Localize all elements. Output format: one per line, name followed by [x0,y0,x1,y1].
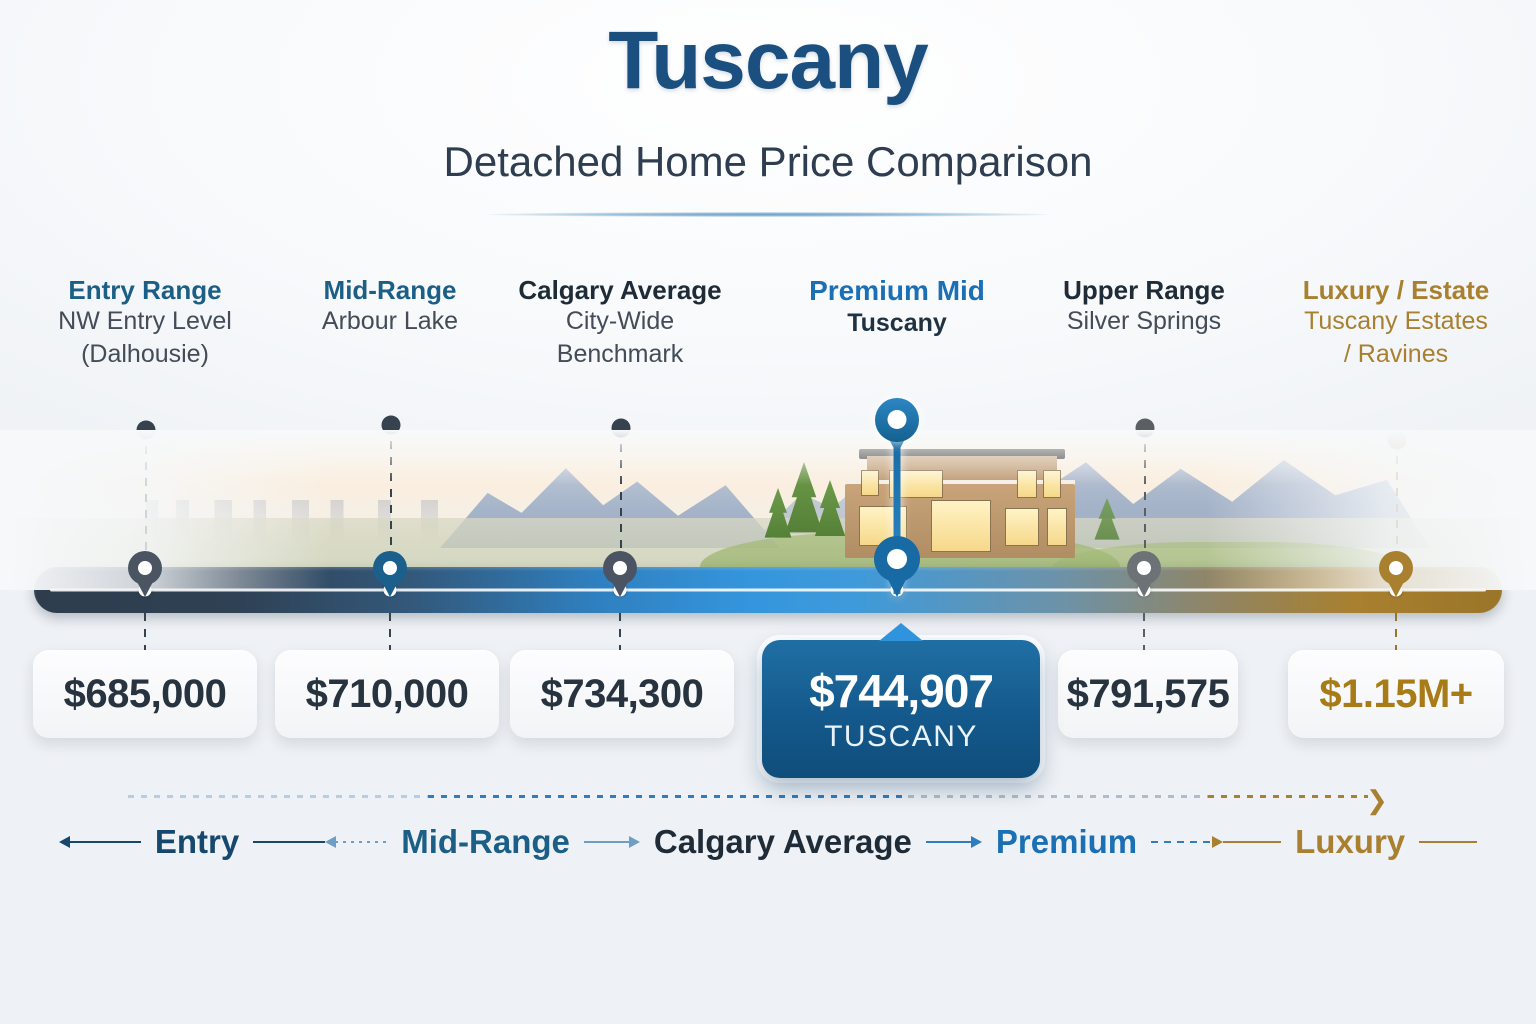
marker-column: Entry RangeNW Entry Level(Dalhousie) [15,276,275,369]
price-card[interactable]: $734,300 [510,650,734,738]
legend-rule [584,841,630,843]
map-pin-icon[interactable] [1379,551,1413,597]
pin-hole [887,549,907,569]
neighbourhood-label: City-Wide [495,306,745,337]
price-value: $710,000 [306,672,469,717]
neighbourhood-label: Tuscany [767,308,1027,339]
map-pin-icon[interactable] [128,551,162,597]
pin-hole [888,410,907,429]
arrow-right-icon [1212,836,1223,848]
legend-connector [584,836,640,848]
legend-label: Luxury [1295,823,1405,861]
tier-label: Upper Range [1014,276,1274,304]
pin-hole [383,561,397,575]
neighbourhood-label-line2: Benchmark [495,339,745,370]
map-pin-icon[interactable] [603,551,637,597]
tier-label: Luxury / Estate [1261,276,1531,304]
axis-segment [128,795,428,798]
axis-arrow-icon: ❯ [1366,787,1388,813]
legend-rule [69,841,141,843]
pin-hole [138,561,152,575]
neighbourhood-label-line2: / Ravines [1261,339,1531,370]
tier-label: Calgary Average [495,276,745,304]
price-value: $1.15M+ [1319,672,1472,717]
price-card[interactable]: $1.15M+ [1288,650,1504,738]
infographic-canvas: Tuscany Detached Home Price Comparison E… [0,0,1536,1024]
pin-hole [1389,561,1403,575]
neighbourhood-label: Arbour Lake [260,306,520,337]
axis-segment [908,795,1208,798]
neighbourhood-label: Tuscany Estates [1261,306,1531,337]
marker-column: Mid-RangeArbour Lake [260,276,520,337]
legend-rule [926,841,972,843]
price-value: $734,300 [541,672,704,717]
price-value: $685,000 [64,672,227,717]
price-value: $791,575 [1067,672,1230,717]
price-card[interactable]: $685,000 [33,650,257,738]
tier-label: Entry Range [15,276,275,304]
neighbourhood-label: Silver Springs [1014,306,1274,337]
card-connector [1395,613,1397,651]
price-value: $744,907 [809,664,993,718]
marker-column: Calgary AverageCity-WideBenchmark [495,276,745,369]
neighbourhood-label-line2: (Dalhousie) [15,339,275,370]
legend-dotted-rule [335,841,387,843]
legend-rule [1419,841,1477,843]
price-card-highlighted[interactable]: $744,907TUSCANY [762,640,1040,778]
tier-label: Premium Mid [767,276,1027,306]
legend-label: Calgary Average [654,823,912,861]
price-card-name: TUSCANY [824,720,978,754]
legend-connector [253,836,387,848]
price-card[interactable]: $791,575 [1058,650,1238,738]
scene-fade-left [0,430,330,590]
legend-arrow-left [59,836,141,848]
legend-connector [1151,836,1281,848]
neighbourhood-label: NW Entry Level [15,306,275,337]
pin-hole [1137,561,1151,575]
card-connector [144,613,146,651]
legend-label: Entry [155,823,239,861]
tier-label: Mid-Range [260,276,520,304]
map-pin-icon[interactable] [1127,551,1161,597]
card-connector [619,613,621,651]
card-pointer [879,623,923,641]
map-pin-icon[interactable] [874,536,920,598]
marker-column: Upper RangeSilver Springs [1014,276,1274,337]
legend-label: Premium [996,823,1137,861]
legend-rule [1223,841,1281,843]
pin-hole [613,561,627,575]
legend-dashed-rule [1151,841,1213,843]
map-pin-icon[interactable] [373,551,407,597]
tier-legend: EntryMid-RangeCalgary AveragePremiumLuxu… [0,823,1536,861]
scene-fade-right [1206,430,1536,590]
card-connector [389,613,391,651]
arrow-right-icon [971,836,982,848]
axis-segment [428,795,908,798]
card-connector [1143,613,1145,651]
axis-segment [1208,795,1368,798]
legend-connector [926,836,982,848]
price-card[interactable]: $710,000 [275,650,499,738]
marker-column: Luxury / EstateTuscany Estates/ Ravines [1261,276,1531,369]
arrow-right-icon [629,836,640,848]
legend-rule [253,841,325,843]
marker-column: Premium MidTuscany [767,276,1027,339]
legend-label: Mid-Range [401,823,570,861]
legend-trailing-rule [1419,841,1477,843]
